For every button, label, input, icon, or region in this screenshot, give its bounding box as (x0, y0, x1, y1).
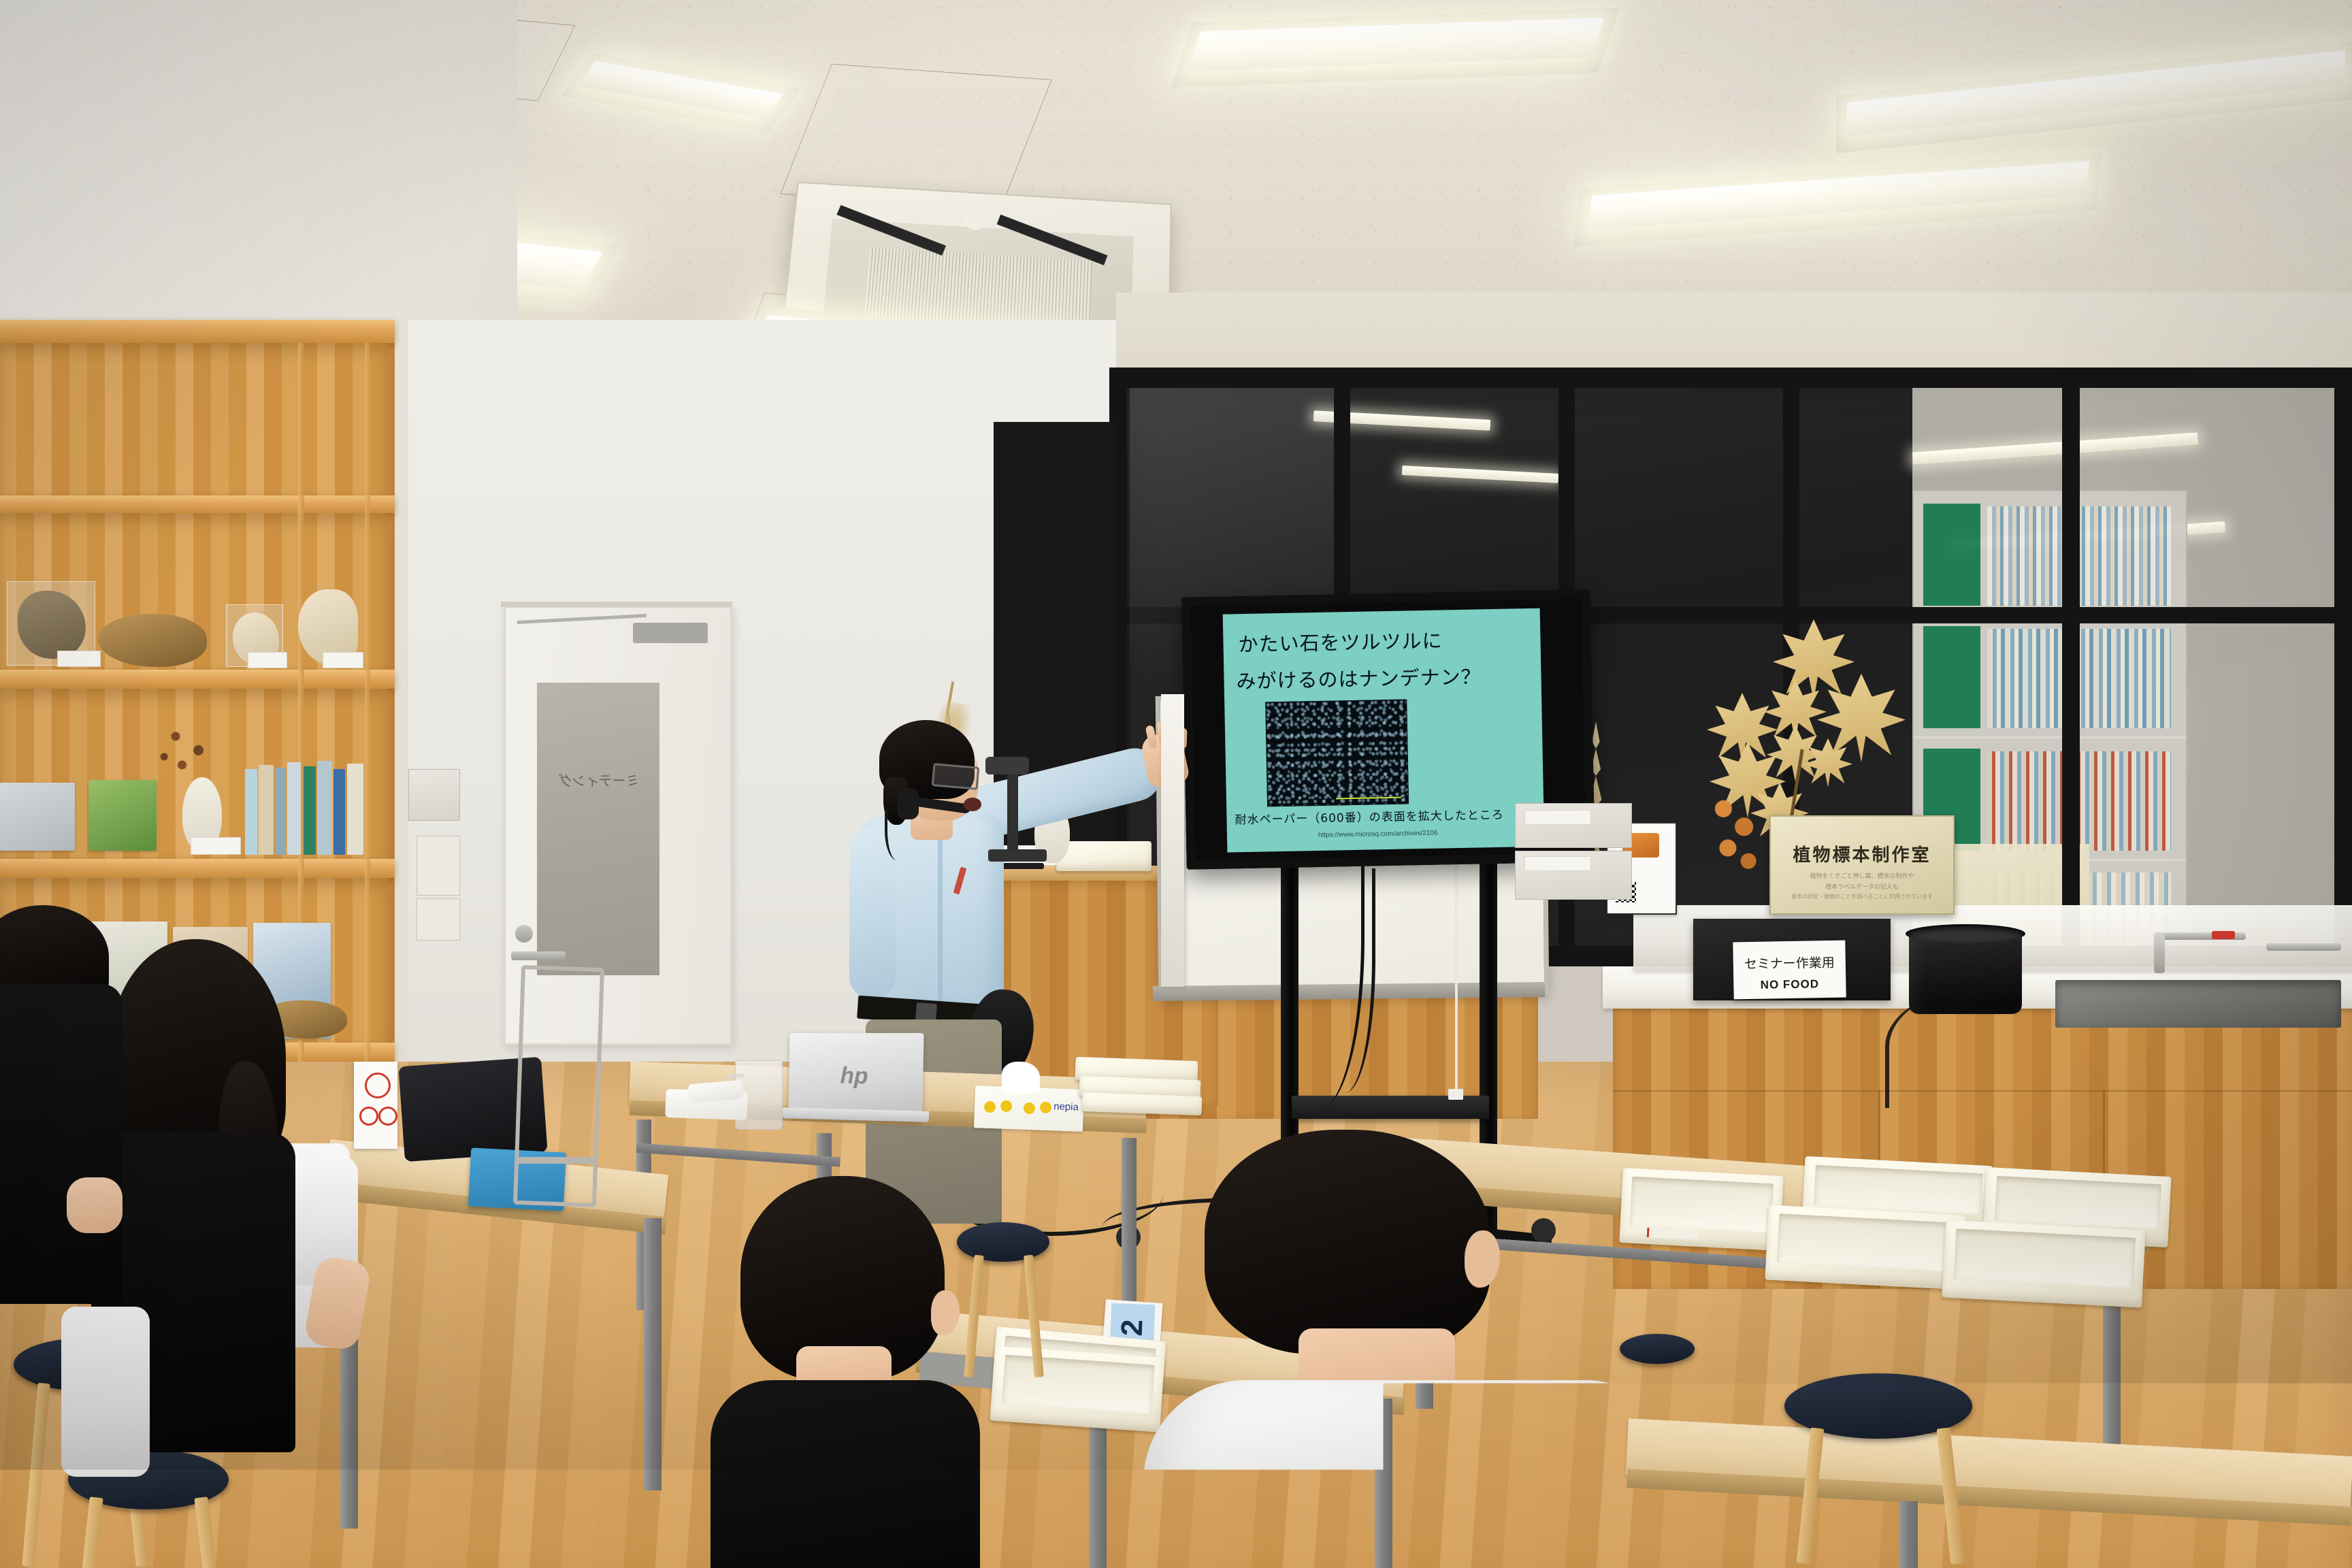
participant-child-left (0, 905, 129, 1327)
slide-scale-bar (1336, 797, 1401, 800)
boy-center-tshirt (710, 1380, 980, 1568)
leaning-white-panel (1161, 694, 1184, 987)
stainless-sink (2055, 980, 2341, 1028)
no-drink-icon (365, 1073, 391, 1098)
boy-center-ear (931, 1290, 960, 1335)
bookcase-shelf-2 (0, 670, 395, 689)
plaque-sub-2: 標本ラベルデータの記入も (1771, 882, 1953, 891)
dried-plant-specimen (143, 708, 225, 789)
partition-head-rail (1109, 367, 2352, 388)
shelf-book-2 (259, 765, 274, 855)
no-food-jp-text: セミナー作業用 (1744, 956, 1835, 972)
wall-control-panel[interactable] (408, 769, 460, 821)
seminar-room-photo: ミーティング (0, 0, 2352, 1568)
participant-boy-center (694, 1176, 980, 1568)
faucet-handle[interactable] (2212, 931, 2235, 939)
specimen-label-2 (248, 652, 287, 668)
microscope-stand[interactable] (1007, 762, 1018, 857)
no-food-sign-jp: セミナー作業用 (1733, 953, 1846, 973)
shelf-book-7 (333, 769, 345, 855)
shelf-book-3 (275, 768, 286, 855)
plant-specimen-room-plaque: 植物標本制作室 植物をくきごと押し葉、標本の制作や 標本ラベルデータの記入も 標… (1769, 815, 1955, 915)
plaque-sub-3: 標本の同定・植物のことを調べることに利用されています (1771, 893, 1953, 900)
metal-drying-rack[interactable] (513, 965, 604, 1207)
center-table-leg-left (1089, 1416, 1107, 1568)
library-green-binder-1 (1923, 504, 1980, 606)
front-right-table-leg (1899, 1501, 1918, 1568)
left-table-leg-2 (644, 1218, 661, 1490)
nepia-brand-text: nepia (1053, 1100, 1084, 1113)
light-switch-plate[interactable] (416, 836, 460, 896)
slide-source-url: https://www.microsq.com/archives/2106 (1318, 830, 1438, 839)
slide-content: かたい石をツルツルに みがけるのはナンデナン？ 耐水ペーパー（600番）の表面を… (1223, 608, 1545, 853)
shelf-magazine-2 (0, 783, 75, 851)
partition-mullion-5 (2062, 367, 2080, 966)
bookcase-shelf-1 (0, 495, 395, 513)
light-switch-plate-2[interactable] (416, 898, 460, 941)
door-frame-top (501, 602, 732, 607)
plaque-title: 植物標本制作室 (1771, 841, 1953, 866)
library-green-binder-2 (1923, 626, 1980, 728)
bucket-rim (1906, 924, 2025, 943)
shelf-book-6 (317, 761, 332, 855)
faucet-body[interactable] (2154, 932, 2165, 973)
plaque-sub-1: 植物をくきごと押し葉、標本の制作や (1771, 871, 1953, 880)
slide-title-line-2: みがけるのはナンデナン？ (1236, 661, 1482, 694)
backroom-light-4 (1402, 465, 1558, 483)
specimen-label-1 (57, 651, 101, 667)
shelf-book-1 (245, 769, 257, 855)
table-warning-card-left (354, 1062, 397, 1149)
tv-stand-cord-plug (1448, 1089, 1463, 1100)
presenter-shirt-placket (938, 828, 943, 1013)
man-front-hair (1205, 1130, 1490, 1354)
participant-man-front (1116, 1130, 1715, 1568)
bookcase-shelf-3 (0, 859, 395, 878)
microscope-base (988, 849, 1047, 862)
child-left-jacket (0, 984, 122, 1304)
no-eat-icon (378, 1107, 397, 1126)
right-tray-5[interactable] (1942, 1220, 2146, 1307)
specimen-label-3 (323, 652, 363, 668)
man-front-tshirt (1143, 1380, 1681, 1568)
partition-mullion-6 (2334, 367, 2352, 966)
door-glass-text: ミーティング (548, 770, 650, 789)
hp-logo: hp (789, 1062, 924, 1092)
no-phone-icon (359, 1107, 378, 1126)
woman-left-bag (61, 1307, 150, 1477)
shelf-book-5 (304, 766, 316, 855)
tissue-popup (1002, 1062, 1040, 1093)
shelf-book-4 (287, 762, 301, 855)
presenter-headset-windscreen (964, 798, 981, 811)
door-lock-knob[interactable] (515, 925, 533, 943)
shelf-label-books (191, 837, 241, 855)
no-food-sign: セミナー作業用 NO FOOD (1733, 941, 1846, 1000)
slide-title-line-1: かたい石をツルツルに (1238, 625, 1443, 657)
man-front-ear (1465, 1230, 1500, 1288)
back-cabinet-label (1524, 856, 1591, 871)
microscope-head[interactable] (985, 757, 1029, 774)
shelf-book-8 (347, 764, 363, 855)
maple-leaf-4 (1707, 693, 1778, 764)
floor-cable-3 (1885, 985, 2093, 1108)
shelf-magazine-1 (88, 780, 157, 851)
slide-caption: 耐水ペーパー（600番）の表面を拡大したところ (1235, 805, 1504, 828)
child-left-hand (67, 1177, 122, 1233)
back-cabinet-label-2 (1524, 810, 1591, 825)
slide-micrograph-image (1265, 699, 1409, 806)
rack-crossbar (517, 1157, 593, 1164)
right-tray-3[interactable] (1765, 1205, 1967, 1290)
door-lever-handle[interactable] (511, 951, 566, 960)
door-closer (633, 623, 708, 643)
maple-leaf-1 (1773, 619, 1855, 701)
presenter-glasses (932, 763, 980, 790)
faucet-spout-2[interactable] (2266, 943, 2341, 951)
dried-berries (1701, 791, 1775, 872)
no-food-sign-en: NO FOOD (1733, 977, 1846, 993)
door-glass-panel: ミーティング (537, 683, 659, 975)
tv-stand-cord (1455, 864, 1458, 1096)
